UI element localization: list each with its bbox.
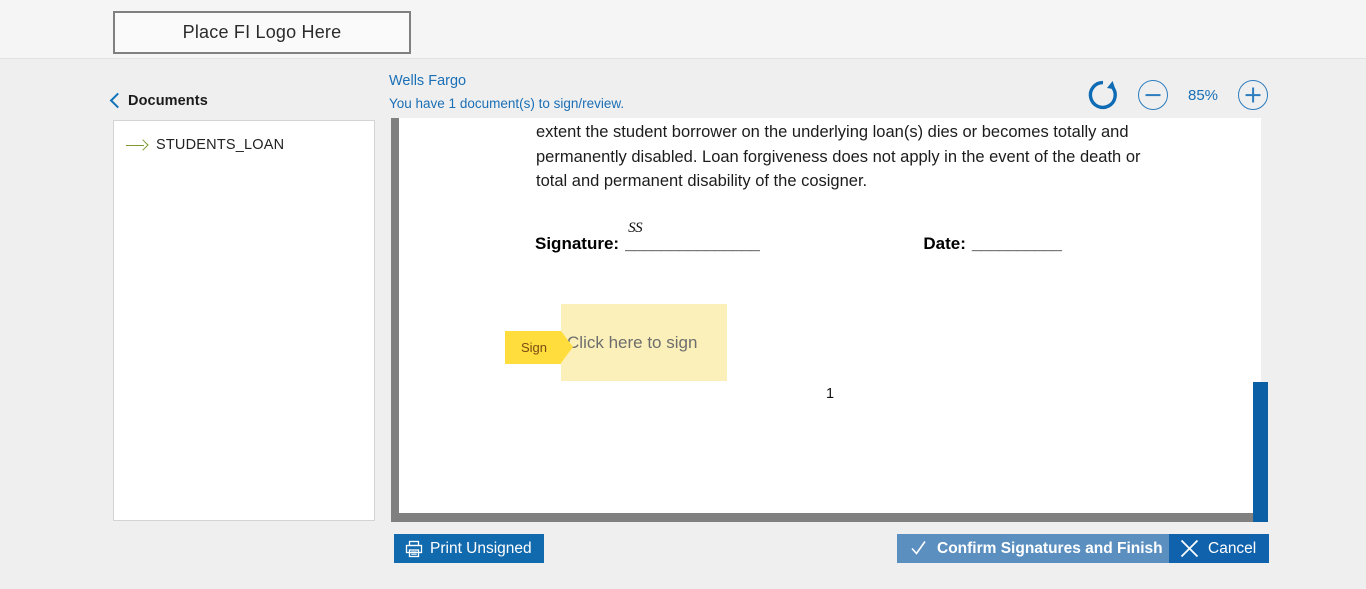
check-icon xyxy=(910,540,927,557)
confirm-signatures-button[interactable]: Confirm Signatures and Finish xyxy=(897,534,1177,563)
signature-underscores: _______________ xyxy=(625,234,759,253)
zoom-in-button[interactable] xyxy=(1238,80,1268,110)
zoom-level-value: 85% xyxy=(1186,87,1220,104)
sign-tag-label: Sign xyxy=(521,340,547,355)
back-link-label: Documents xyxy=(128,93,208,109)
sign-status-note: You have 1 document(s) to sign/review. xyxy=(389,94,624,113)
printer-icon xyxy=(405,540,423,558)
zoom-out-button[interactable] xyxy=(1138,80,1168,110)
document-name: STUDENTS_LOAN xyxy=(156,137,284,153)
signature-initials-mark: SS xyxy=(628,220,642,237)
logo-placeholder-box: Place FI Logo Here xyxy=(113,11,411,54)
sign-tag[interactable]: Sign xyxy=(505,331,561,364)
viewer-horizontal-scrollbar[interactable] xyxy=(391,513,1268,522)
viewer-left-scrollbar-track[interactable] xyxy=(391,118,399,513)
back-to-documents-link[interactable]: Documents xyxy=(112,93,208,109)
viewer-vertical-scrollbar-thumb[interactable] xyxy=(1253,382,1268,522)
signature-line[interactable]: SS _______________ xyxy=(625,234,759,254)
refresh-icon[interactable] xyxy=(1086,78,1120,112)
minus-icon xyxy=(1146,94,1161,96)
date-group: Date: __________ xyxy=(923,234,1061,254)
cancel-button[interactable]: Cancel xyxy=(1169,534,1269,563)
sign-here-widget[interactable]: Sign Click here to sign xyxy=(505,304,727,381)
chevron-left-icon xyxy=(110,93,126,109)
signature-label: Signature: xyxy=(535,234,619,254)
date-label: Date: xyxy=(923,234,966,254)
plus-icon-vertical xyxy=(1252,88,1254,103)
organization-name: Wells Fargo xyxy=(389,72,624,91)
signature-date-row: Signature: SS _______________ Date: ____… xyxy=(535,234,1255,254)
confirm-signatures-label: Confirm Signatures and Finish xyxy=(937,540,1163,558)
signature-field[interactable]: Click here to sign xyxy=(561,304,727,381)
signature-field-placeholder: Click here to sign xyxy=(567,333,697,353)
documents-list-panel: STUDENTS_LOAN xyxy=(113,120,375,521)
logo-placeholder-text: Place FI Logo Here xyxy=(183,22,342,43)
document-info: Wells Fargo You have 1 document(s) to si… xyxy=(389,72,624,113)
close-x-icon xyxy=(1179,538,1200,559)
top-logo-bar: Place FI Logo Here xyxy=(0,0,1366,59)
list-item[interactable]: STUDENTS_LOAN xyxy=(114,121,374,153)
page-number: 1 xyxy=(399,386,1261,402)
document-viewer: extent the student borrower on the under… xyxy=(391,118,1268,522)
document-page: extent the student borrower on the under… xyxy=(399,118,1261,513)
date-underscores: __________ xyxy=(972,234,1062,254)
zoom-controls: 85% xyxy=(1086,78,1268,112)
print-unsigned-label: Print Unsigned xyxy=(430,540,532,558)
document-paragraph: extent the student borrower on the under… xyxy=(536,120,1176,194)
arrow-right-icon xyxy=(126,140,148,150)
print-unsigned-button[interactable]: Print Unsigned xyxy=(394,534,544,563)
cancel-label: Cancel xyxy=(1208,540,1256,558)
